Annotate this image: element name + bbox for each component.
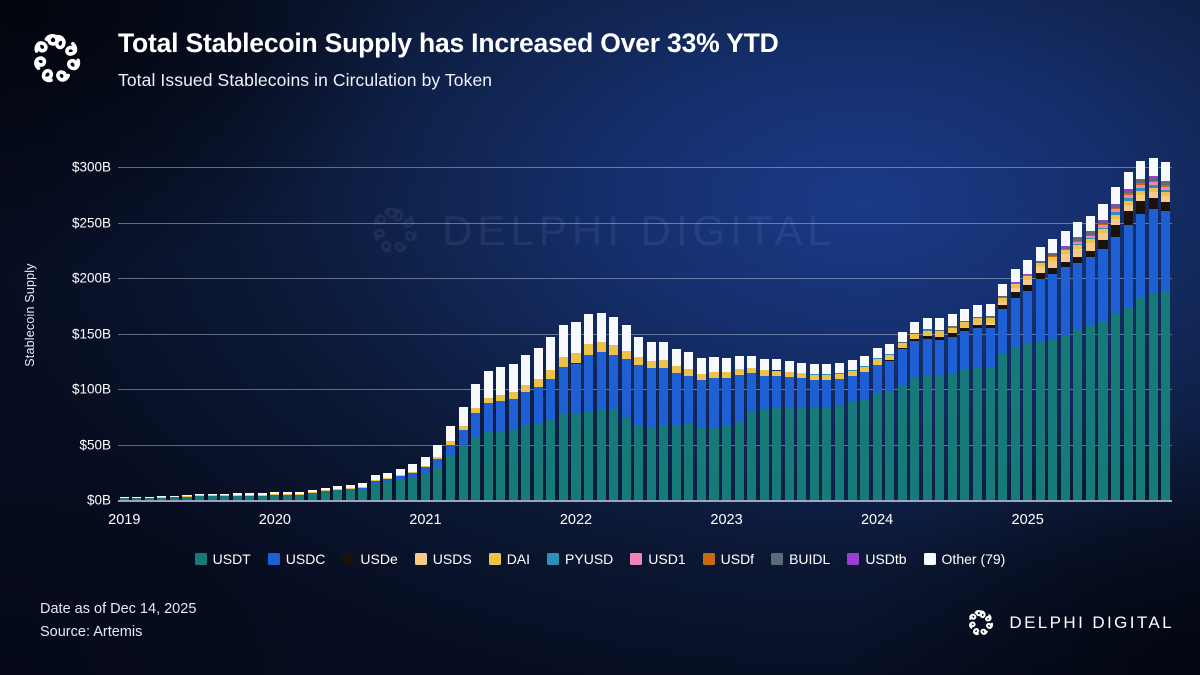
bar-segment [1124,225,1133,307]
bar-segment [1023,344,1032,500]
bar-segment [308,493,317,500]
bar-segment [647,361,656,368]
x-tick-label: 2019 [108,512,140,528]
bar-segment [1073,249,1082,257]
bar-segment [822,374,831,380]
bar-segment [1124,201,1133,205]
bar-segment [1149,209,1158,293]
bar-segment [559,413,568,500]
bar-segment [986,367,995,500]
bar-segment [622,418,631,500]
bar-segment [973,368,982,500]
bar-segment [1048,268,1057,274]
bar-segment [860,372,869,399]
bar-segment [1048,256,1057,257]
bar-segment [973,305,982,317]
bar-segment [371,480,380,481]
bar-column[interactable] [910,112,919,500]
bar-segment [371,475,380,480]
bar-column[interactable] [634,112,643,500]
bar-segment [848,376,857,403]
bar-column[interactable] [898,112,907,500]
delphi-knot-icon [24,26,90,92]
bar-segment [484,403,493,431]
bar-segment [584,355,593,413]
bar-segment [1111,219,1120,226]
bar-segment [948,373,957,500]
bar-segment [1124,172,1133,189]
bar-column[interactable] [973,112,982,500]
bar-column[interactable] [245,112,254,500]
bar-column[interactable] [208,112,217,500]
bar-segment [496,367,505,395]
bar-segment [1073,237,1082,238]
bar-segment [1048,253,1057,254]
bar-column[interactable] [622,112,631,500]
bar-column[interactable] [258,112,267,500]
bar-column[interactable] [672,112,681,500]
bar-segment [785,377,794,408]
bar-segment [898,385,907,500]
chart-card: Total Stablecoin Supply has Increased Ov… [0,0,1200,675]
bar-segment [948,328,957,334]
bar-segment [822,364,831,374]
bar-segment [973,328,982,368]
bar-segment [1161,291,1170,500]
bar-column[interactable] [333,112,342,500]
legend-item[interactable]: USDtb [847,551,906,567]
bar-segment [609,409,618,500]
bar-segment [722,426,731,500]
bar-column[interactable] [1023,112,1032,500]
bar-column[interactable] [346,112,355,500]
bar-column[interactable] [1048,112,1057,500]
bar-segment [396,479,405,500]
bar-segment [873,359,882,365]
bar-segment [1011,298,1020,347]
legend-item[interactable]: USDf [703,551,754,567]
legend-item[interactable]: DAI [489,551,530,567]
bar-segment [1111,187,1120,204]
bar-column[interactable] [145,112,154,500]
bar-segment [973,324,982,325]
bar-segment [459,445,468,500]
bar-segment [935,331,944,337]
bar-column[interactable] [408,112,417,500]
bar-segment [659,342,668,361]
bar-segment [521,392,530,424]
bar-segment [923,330,932,336]
bar-segment [270,494,279,495]
bar-column[interactable] [195,112,204,500]
bar-segment [697,358,706,375]
bar-segment [910,333,919,334]
bar-segment [810,374,819,380]
bar-column[interactable] [295,112,304,500]
bar-segment [459,407,468,426]
bar-column[interactable] [848,112,857,500]
bar-segment [333,486,342,489]
bar-segment [835,363,844,373]
bar-segment [923,318,932,329]
bar-segment [935,330,944,331]
bar-segment [1086,235,1095,236]
bar-segment [383,478,392,479]
bar-segment [1011,288,1020,292]
bar-segment [910,322,919,333]
bar-column[interactable] [233,112,242,500]
bar-segment [935,340,944,376]
bar-column[interactable] [132,112,141,500]
bar-segment [371,481,380,484]
bar-segment [672,349,681,367]
bar-segment [534,423,543,500]
bar-column[interactable] [496,112,505,500]
bar-segment [747,373,756,412]
bar-column[interactable] [534,112,543,500]
bar-column[interactable] [760,112,769,500]
bar-segment [760,376,769,410]
bar-segment [1036,341,1045,500]
bar-column[interactable] [283,112,292,500]
bar-segment [421,467,430,473]
bar-column[interactable] [797,112,806,500]
bar-segment [860,366,869,367]
bar-segment [772,359,781,370]
legend-item[interactable]: USDS [415,551,472,567]
bar-segment [1011,292,1020,298]
bar-segment [973,318,982,324]
bar-segment [672,366,681,373]
bar-segment [1149,188,1158,192]
bar-segment [835,406,844,500]
bar-segment [960,331,969,369]
bar-segment [1161,187,1170,190]
bar-column[interactable] [358,112,367,500]
bar-segment [910,341,919,378]
bar-segment [258,493,267,495]
bar-column[interactable] [684,112,693,500]
legend-swatch [924,553,936,565]
bar-column[interactable] [521,112,530,500]
bar-column[interactable] [509,112,518,500]
bar-column[interactable] [1061,112,1070,500]
bar-segment [1073,238,1082,241]
bar-segment [1136,180,1145,183]
legend-item[interactable]: Other (79) [924,551,1006,567]
bar-segment [1161,182,1170,185]
legend-item[interactable]: USDe [342,551,397,567]
bar-segment [835,379,844,406]
bar-segment [1011,282,1020,283]
bar-segment [534,379,543,387]
bar-column[interactable] [396,112,405,500]
bar-column[interactable] [1136,112,1145,500]
bar-segment [1098,249,1107,321]
bar-segment [797,373,806,378]
bar-segment [245,493,254,494]
bar-segment [433,459,442,467]
bar-column[interactable] [433,112,442,500]
bar-segment [408,464,417,471]
bar-column[interactable] [120,112,129,500]
bar-segment [1086,238,1095,239]
legend-swatch [547,553,559,565]
bar-column[interactable] [822,112,831,500]
bar-segment [910,333,919,338]
bar-segment [1036,263,1045,267]
x-tick-label: 2023 [710,512,742,528]
bar-segment [1149,176,1158,178]
bar-column[interactable] [308,112,317,500]
legend-label: USD1 [648,551,685,567]
bar-segment [1086,239,1095,243]
bar-column[interactable] [860,112,869,500]
bar-segment [1136,297,1145,500]
bar-segment [1023,291,1032,343]
bar-segment [772,371,781,376]
bar-segment [358,483,367,487]
bar-segment [471,384,480,408]
bar-column[interactable] [835,112,844,500]
bar-column[interactable] [584,112,593,500]
legend-label: BUIDL [789,551,830,567]
bar-segment [1149,182,1158,185]
bar-segment [1124,205,1133,211]
bar-segment [459,430,468,444]
legend-label: USDS [433,551,472,567]
legend-swatch [415,553,427,565]
bar-segment [998,302,1007,304]
bar-segment [986,323,995,325]
bar-column[interactable] [735,112,744,500]
bar-column[interactable] [948,112,957,500]
legend-swatch [268,553,280,565]
bar-segment [182,496,191,497]
bar-segment [459,426,468,430]
bar-segment [220,494,229,495]
bar-segment [1111,237,1120,314]
bar-segment [1136,161,1145,179]
bar-column[interactable] [785,112,794,500]
bar-segment [1061,254,1070,262]
bar-segment [1136,191,1145,195]
bar-column[interactable] [1124,112,1133,500]
bar-segment [358,487,367,488]
legend-label: USDf [721,551,754,567]
bar-segment [923,376,932,500]
bar-column[interactable] [157,112,166,500]
bar-segment [233,495,242,496]
bar-segment [496,395,505,401]
bar-column[interactable] [383,112,392,500]
bar-column[interactable] [597,112,606,500]
bar-segment [960,322,969,328]
bar-segment [898,349,907,385]
bar-segment [471,438,480,500]
bar-segment [270,492,279,494]
bar-segment [1124,189,1133,191]
bar-segment [735,421,744,500]
bar-column[interactable] [659,112,668,500]
x-tick-label: 2022 [560,512,592,528]
bar-segment [986,317,995,323]
bar-segment [998,309,1007,353]
bar-segment [358,489,367,500]
bar-segment [408,477,417,500]
bar-column[interactable] [923,112,932,500]
bar-column[interactable] [1073,112,1082,500]
bar-segment [1098,224,1107,225]
bar-column[interactable] [697,112,706,500]
bar-column[interactable] [722,112,731,500]
logo-text: DELPHI DIGITAL [1009,613,1174,633]
bar-segment [797,407,806,500]
bar-segment [1161,202,1170,211]
bar-segment [1061,247,1070,250]
bar-segment [546,337,555,369]
bar-segment [170,496,179,497]
bar-column[interactable] [270,112,279,500]
bar-segment [597,352,606,410]
bar-column[interactable] [1111,112,1120,500]
legend-swatch [630,553,642,565]
bar-column[interactable] [609,112,618,500]
bar-segment [1111,205,1120,207]
bar-column[interactable] [182,112,191,500]
bar-segment [346,485,355,488]
bar-segment [1111,209,1120,212]
bar-column[interactable] [998,112,1007,500]
bar-column[interactable] [421,112,430,500]
bar-column[interactable] [1149,112,1158,500]
bar-column[interactable] [647,112,656,500]
bar-segment [647,368,656,428]
bar-segment [835,373,844,379]
bar-segment [935,376,944,500]
bar-segment [747,368,756,374]
bar-segment [509,399,518,429]
bar-column[interactable] [986,112,995,500]
bar-segment [496,431,505,500]
bar-segment [986,325,995,328]
legend-item[interactable]: BUIDL [771,551,830,567]
legend-item[interactable]: PYUSD [547,551,613,567]
bar-segment [747,356,756,368]
bar-column[interactable] [1011,112,1020,500]
bar-column[interactable] [471,112,480,500]
bar-segment [145,497,154,498]
bar-segment [1161,192,1170,196]
bar-segment [1098,228,1107,229]
bar-segment [898,348,907,349]
bar-segment [584,344,593,355]
bar-column[interactable] [772,112,781,500]
bar-column[interactable] [220,112,229,500]
bar-column[interactable] [885,112,894,500]
bar-segment [659,360,668,368]
bar-segment [1098,233,1107,240]
bar-column[interactable] [1098,112,1107,500]
bar-segment [709,372,718,378]
bar-segment [521,425,530,500]
bar-segment [622,351,631,359]
bar-segment [810,380,819,408]
bar-segment [684,423,693,500]
bar-segment [1161,196,1170,202]
bar-segment [760,370,769,375]
bar-segment [132,497,141,498]
bar-column[interactable] [873,112,882,500]
x-tick-label: 2021 [409,512,441,528]
bar-column[interactable] [1086,112,1095,500]
page-subtitle: Total Issued Stablecoins in Circulation … [118,70,492,91]
bar-column[interactable] [709,112,718,500]
bar-segment [1149,178,1158,181]
bar-segment [208,495,217,496]
bar-segment [948,337,957,374]
bar-segment [747,412,756,500]
bar-column[interactable] [546,112,555,500]
bar-segment [1036,247,1045,261]
bar-segment [383,479,392,482]
bar-column[interactable] [960,112,969,500]
bar-segment [421,457,430,466]
bar-segment [308,490,317,492]
legend-item[interactable]: USDT [195,551,251,567]
bar-segment [195,495,204,496]
bar-segment [1136,188,1145,191]
bar-segment [195,494,204,495]
bar-segment [860,356,869,366]
legend-swatch [195,553,207,565]
bar-column[interactable] [810,112,819,500]
bar-segment [986,328,995,367]
bar-column[interactable] [935,112,944,500]
bar-column[interactable] [446,112,455,500]
bar-segment [1098,229,1107,233]
legend-label: USDC [286,551,326,567]
bar-column[interactable] [170,112,179,500]
bar-column[interactable] [1161,112,1170,500]
bar-segment [1136,201,1145,214]
bar-column[interactable] [747,112,756,500]
bar-segment [622,325,631,352]
bar-column[interactable] [321,112,330,500]
bar-segment [1161,190,1170,193]
legend-item[interactable]: USD1 [630,551,685,567]
bar-column[interactable] [1036,112,1045,500]
bar-column[interactable] [559,112,568,500]
bar-segment [647,428,656,500]
chart-legend[interactable]: USDTUSDCUSDeUSDSDAIPYUSDUSD1USDfBUIDLUSD… [0,548,1200,570]
bar-segment [684,369,693,376]
bar-segment [1048,239,1057,253]
bar-segment [1048,340,1057,500]
bar-column[interactable] [459,112,468,500]
bar-segment [484,431,493,500]
x-axis-line [118,500,1172,502]
bar-segment [622,359,631,418]
bar-column[interactable] [371,112,380,500]
source-line: Source: Artemis [40,624,142,640]
legend-item[interactable]: USDC [268,551,326,567]
bar-segment [597,313,606,342]
bar-column[interactable] [571,112,580,500]
bar-segment [659,426,668,500]
bar-column[interactable] [484,112,493,500]
bar-segment [1023,285,1032,292]
